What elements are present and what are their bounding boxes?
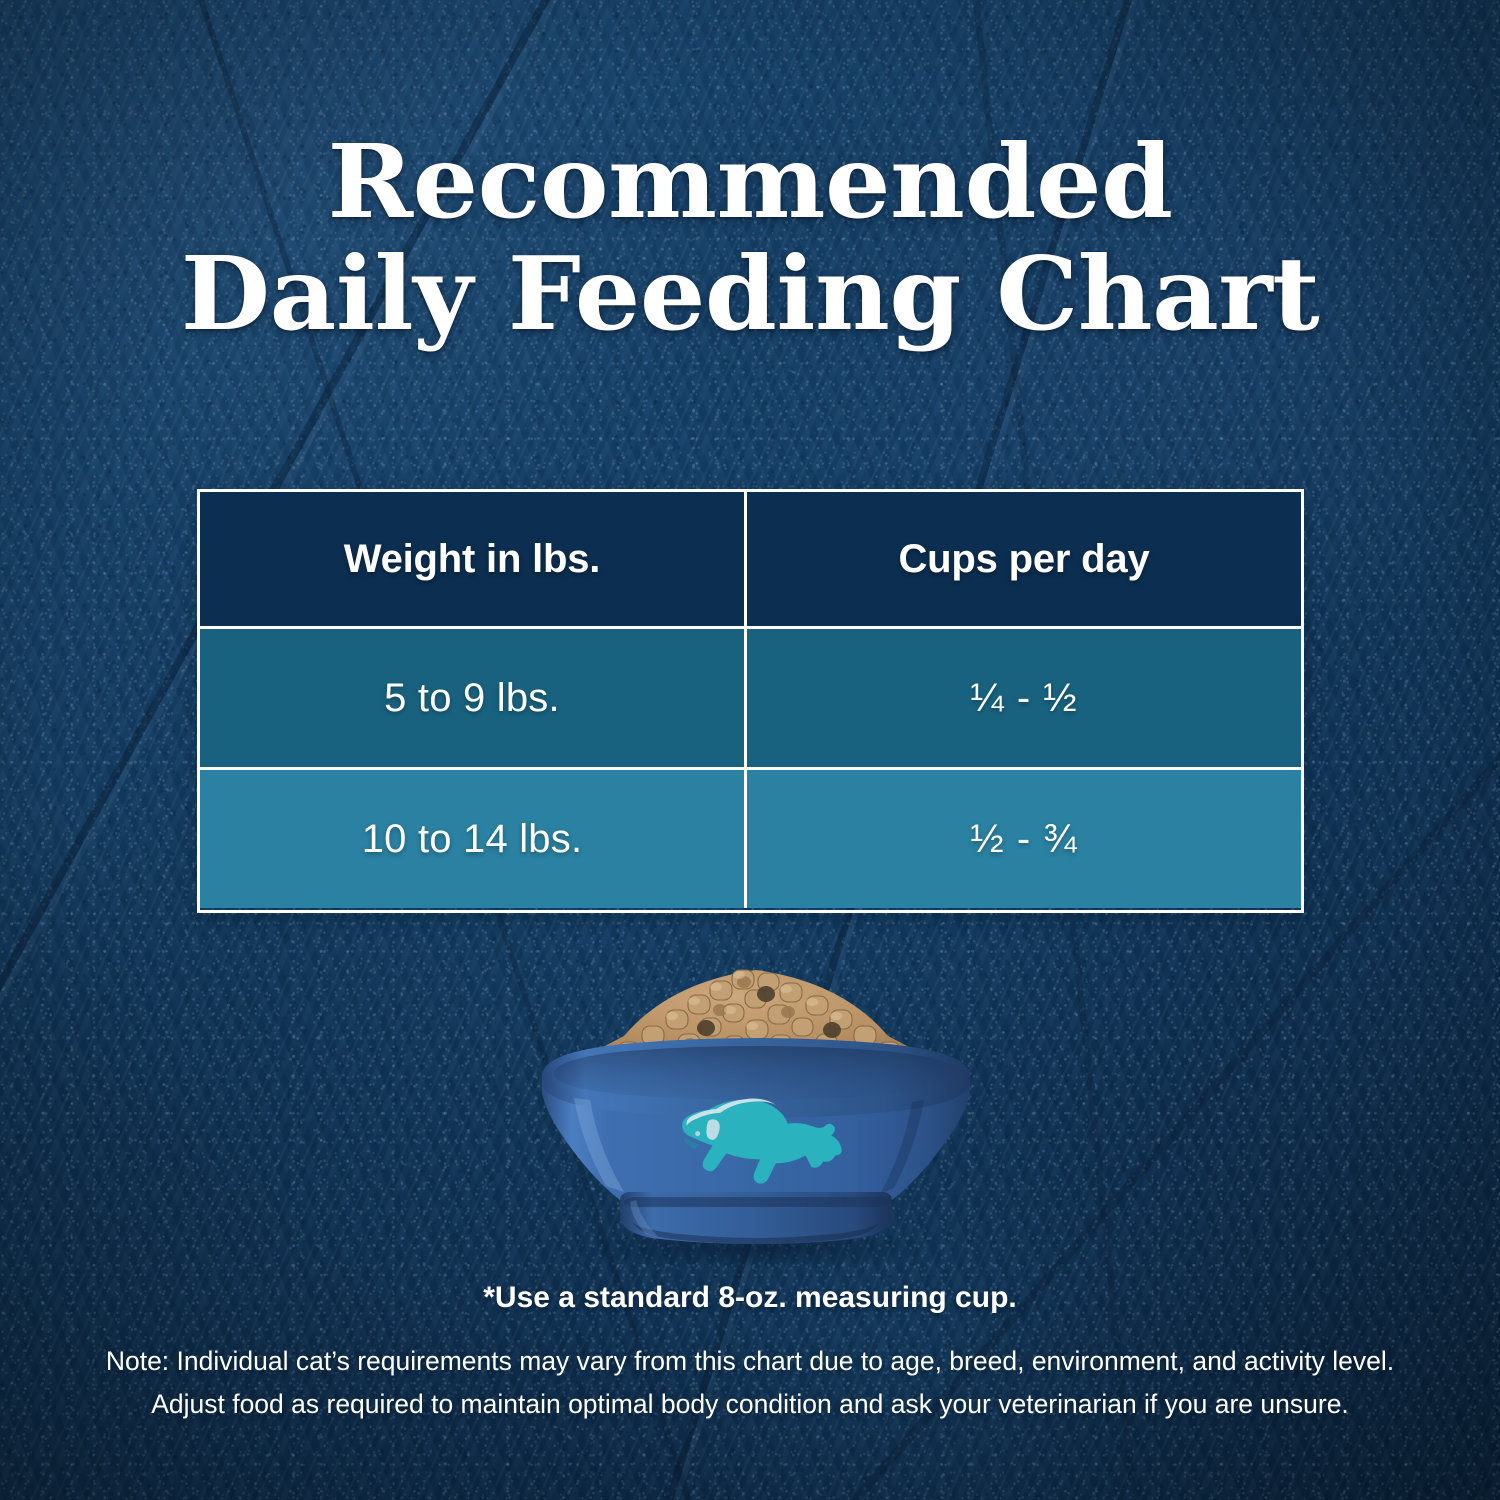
page-title-line-2: Daily Feeding Chart — [0, 238, 1500, 350]
measuring-cup-footnote: *Use a standard 8-oz. measuring cup. — [0, 1281, 1500, 1315]
table-cell-value-weight: 10 to 14 lbs. — [362, 817, 583, 862]
table-cell-weight: 5 to 9 lbs. — [200, 629, 747, 767]
table-header-cell-weight: Weight in lbs. — [200, 492, 747, 626]
table-cell-cups: ¼ - ½ — [747, 629, 1301, 767]
table-cell-weight: 10 to 14 lbs. — [200, 770, 747, 908]
table-cell-cups: ½ - ¾ — [747, 770, 1301, 908]
food-bowl-illustration — [520, 948, 990, 1268]
table-cell-value-weight: 5 to 9 lbs. — [384, 676, 560, 721]
page-title-line-1: Recommended — [0, 126, 1500, 238]
table-row: 10 to 14 lbs. ½ - ¾ — [200, 767, 1301, 908]
table-header-row: Weight in lbs. Cups per day — [200, 492, 1301, 626]
disclaimer-note: Note: Individual cat’s requirements may … — [0, 1340, 1500, 1426]
disclaimer-note-line-2: Adjust food as required to maintain opti… — [0, 1383, 1500, 1426]
feeding-chart-page: Recommended Daily Feeding Chart Weight i… — [0, 0, 1500, 1500]
page-title: Recommended Daily Feeding Chart — [0, 126, 1500, 350]
table-header-label-cups: Cups per day — [899, 537, 1150, 582]
table-cell-value-cups: ¼ - ½ — [970, 676, 1077, 721]
table-header-label-weight: Weight in lbs. — [344, 537, 600, 582]
disclaimer-note-line-1: Note: Individual cat’s requirements may … — [0, 1340, 1500, 1383]
table-row: 5 to 9 lbs. ¼ - ½ — [200, 626, 1301, 767]
table-header-cell-cups: Cups per day — [747, 492, 1301, 626]
table-cell-value-cups: ½ - ¾ — [970, 817, 1077, 862]
feeding-chart-table: Weight in lbs. Cups per day 5 to 9 lbs. … — [197, 489, 1304, 913]
